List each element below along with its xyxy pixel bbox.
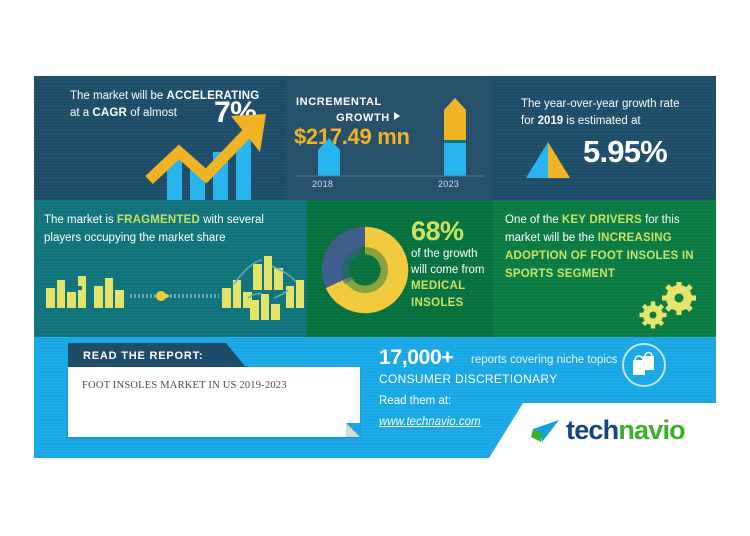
technavio-logo-band: technavio: [489, 403, 716, 458]
report-title: FOOT INSOLES MARKET IN US 2019-2023: [82, 380, 347, 391]
read-them-at-label: Read them at:: [379, 395, 451, 407]
panel-cagr: The market will be ACCELERATING at a CAG…: [34, 76, 286, 200]
panel-footer: READ THE REPORT: FOOT INSOLES MARKET IN …: [34, 337, 716, 458]
donut-chart: [319, 224, 411, 316]
incremental-year-start: 2018: [312, 179, 333, 189]
growth-share-text: 68% of the growth will come from MEDICAL…: [411, 216, 493, 312]
fragmented-statement: The market is FRAGMENTED with several pl…: [44, 211, 302, 247]
triangle-icon: [521, 138, 581, 183]
driver-line3: ADOPTION OF FOOT INSOLES IN: [505, 250, 694, 262]
yoy-line2-a: for: [521, 115, 538, 127]
yoy-line2-b: 2019: [538, 115, 564, 127]
technavio-logo[interactable]: technavio: [529, 415, 685, 445]
incremental-year-end: 2023: [438, 179, 459, 189]
fragmented-line1-b: FRAGMENTED: [117, 214, 200, 226]
row-middle: The market is FRAGMENTED with several pl…: [34, 200, 716, 337]
infographic-canvas: The market will be ACCELERATING at a CAG…: [0, 0, 750, 536]
panel-fragmented: The market is FRAGMENTED with several pl…: [34, 200, 307, 337]
driver-line1-c: for this: [642, 214, 680, 226]
growth-share-highlight2: INSOLES: [411, 295, 493, 312]
sector-label: CONSUMER DISCRETIONARY: [379, 372, 557, 386]
yoy-line2-c: is estimated at: [563, 115, 640, 127]
growth-share-desc2: come from: [430, 264, 484, 276]
upward-trend-arrow-icon: [34, 76, 286, 200]
panel-key-drivers: One of the KEY DRIVERS for this market w…: [493, 200, 716, 337]
driver-line2-b: INCREASING: [598, 232, 672, 244]
driver-line4: SPORTS SEGMENT: [505, 268, 615, 280]
shopping-bags-icon: [622, 343, 666, 387]
read-the-report-tab: READ THE REPORT:: [68, 343, 248, 370]
driver-line1-a: One of the: [505, 214, 562, 226]
report-card[interactable]: FOOT INSOLES MARKET IN US 2019-2023: [68, 367, 360, 437]
logo-text-navio: navio: [618, 415, 685, 445]
report-count-description: reports covering niche topics: [471, 354, 617, 366]
key-drivers-statement: One of the KEY DRIVERS for this market w…: [505, 211, 710, 283]
paper-plane-icon: [529, 417, 563, 445]
yoy-value: 5.95%: [583, 134, 667, 170]
fragmented-line1-a: The market is: [44, 214, 117, 226]
infographic-frame: The market will be ACCELERATING at a CAG…: [34, 76, 716, 458]
technavio-url[interactable]: www.technavio.com: [379, 416, 481, 428]
read-the-report-label: READ THE REPORT:: [83, 350, 203, 362]
panel-yoy-growth: The year-over-year growth rate for 2019 …: [493, 76, 716, 200]
yoy-line1: The year-over-year growth rate: [521, 98, 680, 110]
row-top: The market will be ACCELERATING at a CAG…: [34, 76, 716, 200]
panel-growth-share: 68% of the growth will come from MEDICAL…: [307, 200, 493, 337]
fragmented-line2: players occupying the market share: [44, 232, 226, 244]
gears-icon: [629, 282, 709, 332]
logo-text-tech: tech: [566, 415, 618, 445]
fragmented-line1-c: with several: [200, 214, 264, 226]
growth-share-percent: 68%: [411, 216, 493, 246]
page-fold-corner: [346, 423, 360, 437]
report-count: 17,000+: [379, 346, 453, 370]
yoy-statement: The year-over-year growth rate for 2019 …: [521, 96, 701, 130]
city-buildings-network-icon: [34, 252, 307, 337]
growth-share-highlight1: MEDICAL: [411, 278, 493, 295]
panel-incremental-growth: INCREMENTAL GROWTH $217.49 mn 2018 2023: [286, 76, 493, 200]
driver-line1-b: KEY DRIVERS: [562, 214, 642, 226]
driver-line2-a: market will be the: [505, 232, 598, 244]
